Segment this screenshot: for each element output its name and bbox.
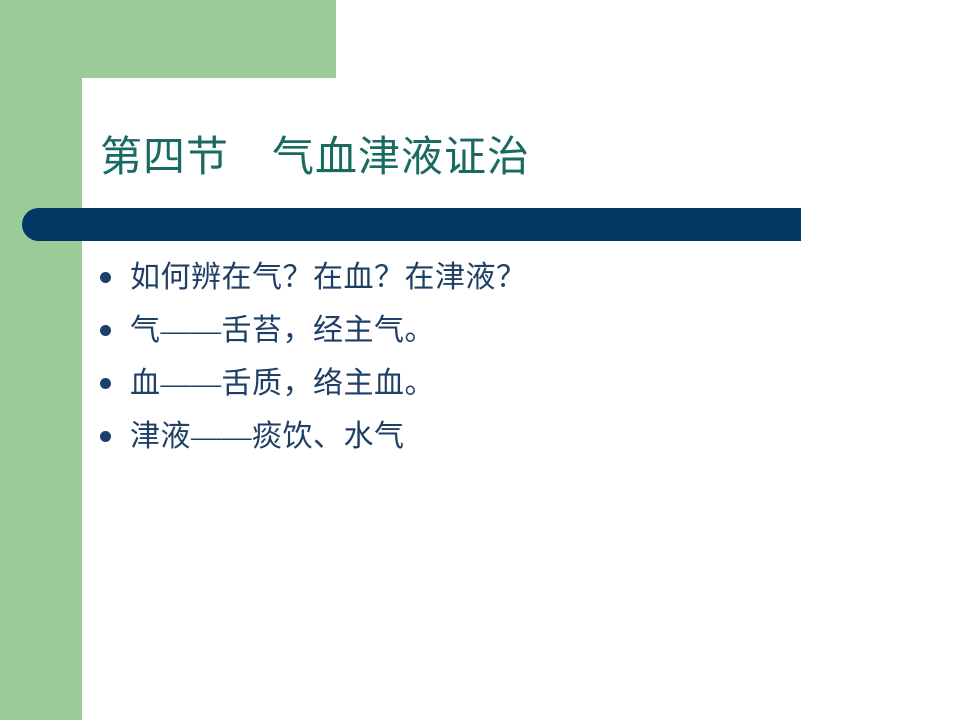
bullet-dot-icon xyxy=(100,378,111,389)
list-item: 血——舌质，络主血。 xyxy=(100,364,900,417)
green-top-block-decoration xyxy=(0,0,336,78)
list-item: 如何辨在气？在血？在津液？ xyxy=(100,258,900,311)
list-item: 津液——痰饮、水气 xyxy=(100,417,900,470)
list-item: 气——舌苔，经主气。 xyxy=(100,311,900,364)
bullet-text: 气——舌苔，经主气。 xyxy=(130,311,900,351)
bullet-list: 如何辨在气？在血？在津液？ 气——舌苔，经主气。 血——舌质，络主血。 津液——… xyxy=(100,258,900,470)
bullet-dot-icon xyxy=(100,325,111,336)
navy-title-underline-bar xyxy=(22,208,801,241)
bullet-dot-icon xyxy=(100,431,111,442)
bullet-text: 津液——痰饮、水气 xyxy=(130,417,900,457)
bullet-text: 如何辨在气？在血？在津液？ xyxy=(130,258,900,298)
bullet-text: 血——舌质，络主血。 xyxy=(130,364,900,404)
green-left-band-decoration xyxy=(0,0,82,720)
slide-canvas: 第四节 气血津液证治 如何辨在气？在血？在津液？ 气——舌苔，经主气。 血——舌… xyxy=(0,0,960,720)
bullet-dot-icon xyxy=(100,272,111,283)
slide-title: 第四节 气血津液证治 xyxy=(100,134,900,182)
